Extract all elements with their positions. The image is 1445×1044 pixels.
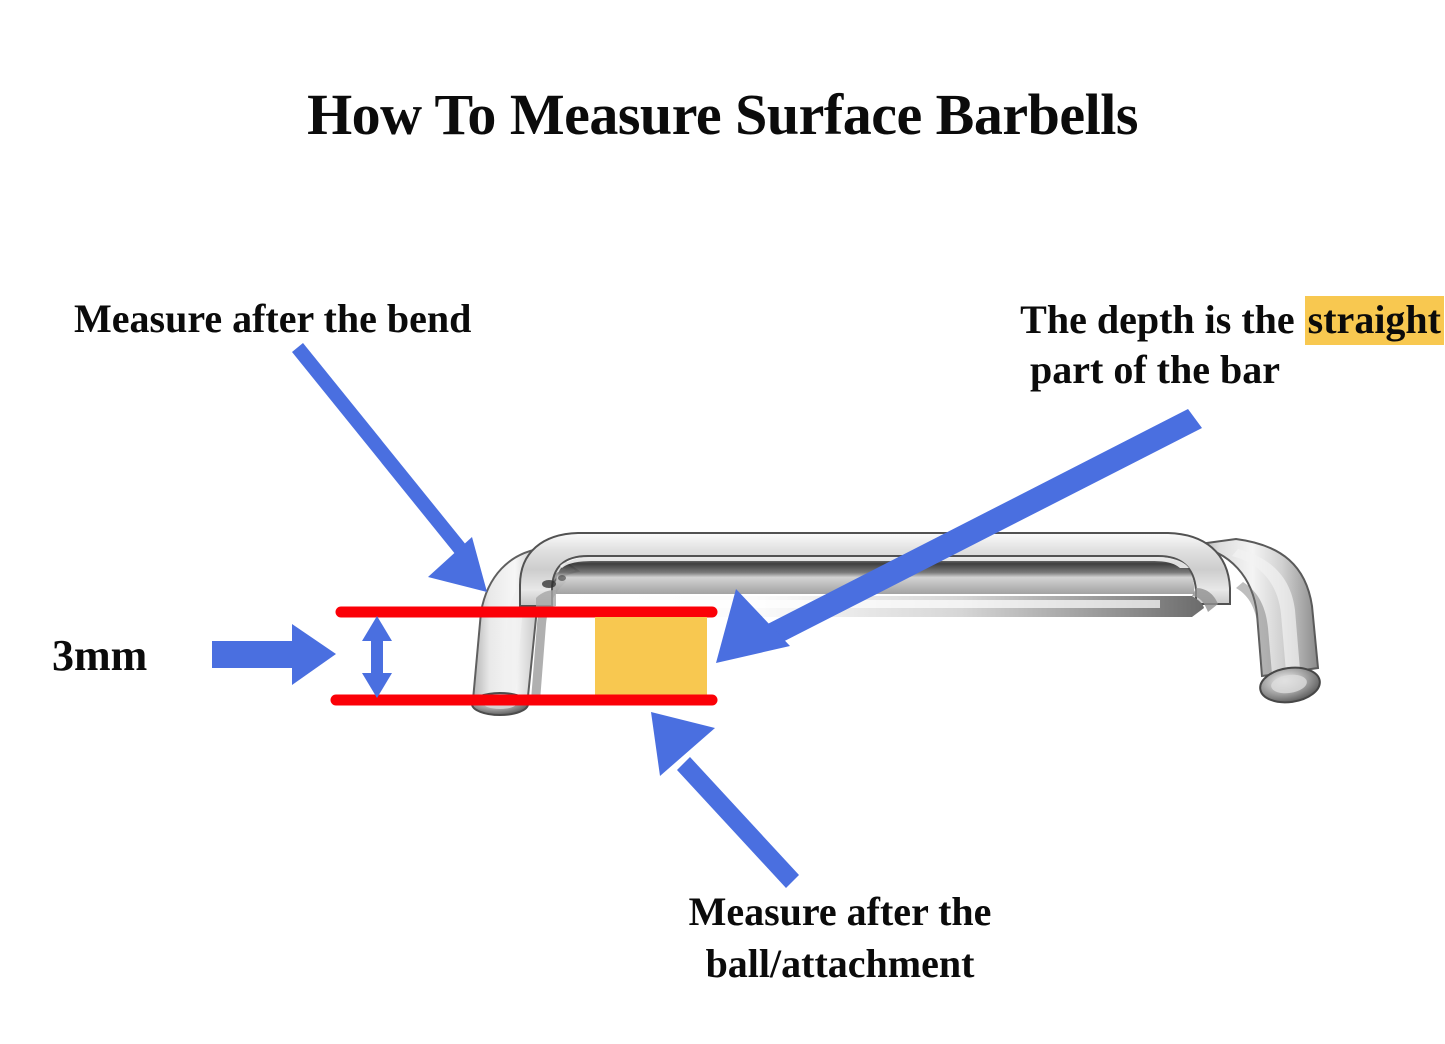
ball-text-line1: Measure after the [689, 889, 992, 934]
ball-text-line2: ball/attachment [630, 942, 1050, 985]
arrow-thickness-double-icon [362, 616, 392, 698]
page-title: How To Measure Surface Barbells [0, 84, 1445, 147]
label-measure-after-ball: Measure after the ball/attachment [630, 890, 1050, 985]
label-measure-after-bend: Measure after the bend [74, 297, 471, 340]
depth-highlight-block [595, 617, 707, 697]
arrow-depth-icon [716, 409, 1202, 663]
depth-text-line2: part of the bar [866, 348, 1444, 391]
label-thickness-3mm: 3mm [52, 632, 147, 680]
annotation-layer [0, 0, 1445, 1044]
label-depth-description: The depth is the straight part of the ba… [866, 298, 1444, 391]
diagram-canvas: How To Measure Surface Barbells Measure … [0, 0, 1445, 1044]
depth-text-prefix: The depth is the [1020, 297, 1305, 342]
arrow-3mm-icon [212, 624, 336, 685]
arrow-bend-icon [292, 343, 487, 592]
arrow-ball-icon [651, 712, 799, 888]
depth-text-highlight: straight [1305, 296, 1444, 345]
